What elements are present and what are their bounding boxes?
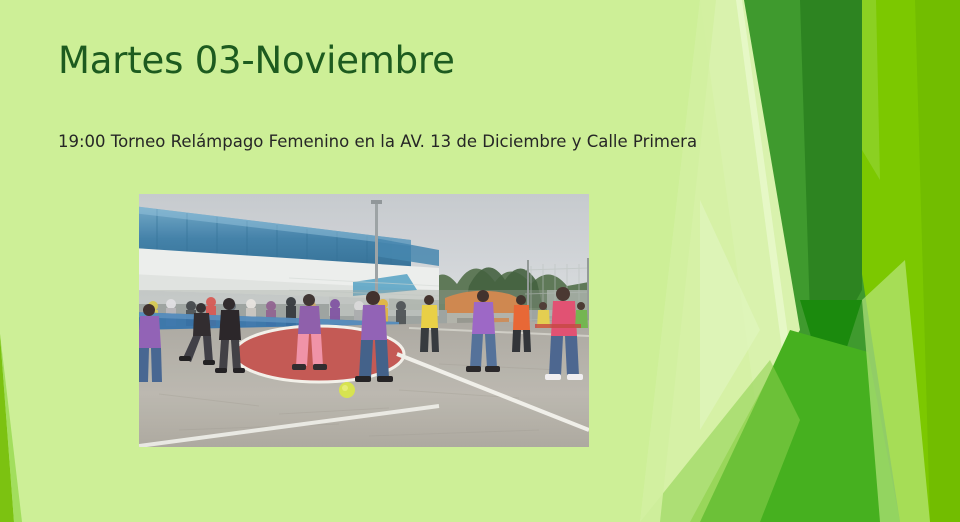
event-detail-line: 19:00 Torneo Relámpago Femenino en la AV…	[58, 131, 718, 152]
facet-bright-slab	[915, 0, 960, 522]
facet-deep-triangle	[800, 300, 862, 400]
title-placeholder: Martes 03-Noviembre	[58, 40, 678, 83]
slide-photo	[139, 194, 589, 447]
facet-midlight-wedge	[690, 352, 884, 522]
facet-rising-blade	[700, 330, 900, 522]
photo-artwork	[139, 194, 589, 447]
facet-pale-right-highlight	[862, 260, 930, 522]
body-placeholder: 19:00 Torneo Relámpago Femenino en la AV…	[58, 131, 718, 152]
facet-pale-sliver-upper	[700, 0, 800, 400]
facet-left-wedge-soft	[0, 334, 22, 522]
facet-bright-column	[806, 0, 960, 522]
facet-pale-mid-triangle	[700, 200, 760, 430]
facet-bottom-overlay	[640, 360, 800, 522]
facet-dark-blade	[737, 0, 900, 522]
facet-pale-base	[640, 0, 960, 522]
facet-thin-highlight	[736, 0, 790, 350]
facet-darker-blade	[800, 0, 862, 380]
page-title: Martes 03-Noviembre	[58, 40, 678, 83]
facet-left-wedge	[0, 334, 14, 522]
facet-topright-notch	[862, 0, 880, 180]
slide-canvas: Martes 03-Noviembre 19:00 Torneo Relámpa…	[0, 0, 960, 522]
